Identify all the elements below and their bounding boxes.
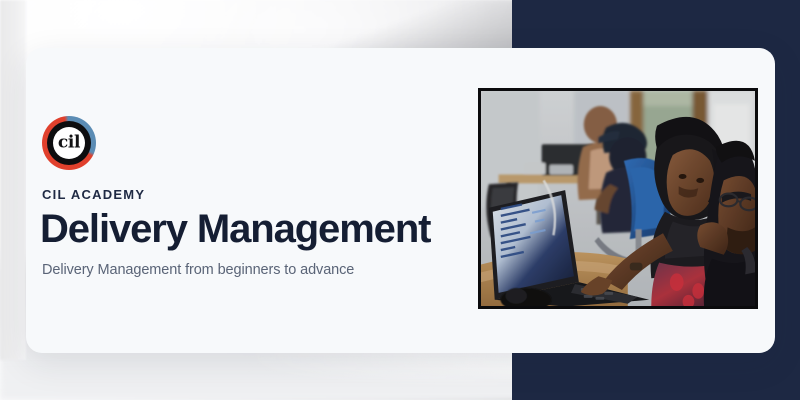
brand-eyebrow: CIL ACADEMY xyxy=(42,187,145,202)
background-left-band xyxy=(0,0,26,360)
page-subtitle: Delivery Management from beginners to ad… xyxy=(42,262,354,278)
cil-logo: cil xyxy=(42,116,96,170)
banner-card: cil CIL ACADEMY Delivery Management Deli… xyxy=(26,48,775,353)
course-photo-illustration xyxy=(481,91,755,306)
course-photo xyxy=(481,91,755,306)
logo-core: cil xyxy=(53,127,85,159)
page-title: Delivery Management xyxy=(40,207,430,252)
logo-wordmark: cil xyxy=(58,134,80,151)
course-photo-frame xyxy=(478,88,758,309)
